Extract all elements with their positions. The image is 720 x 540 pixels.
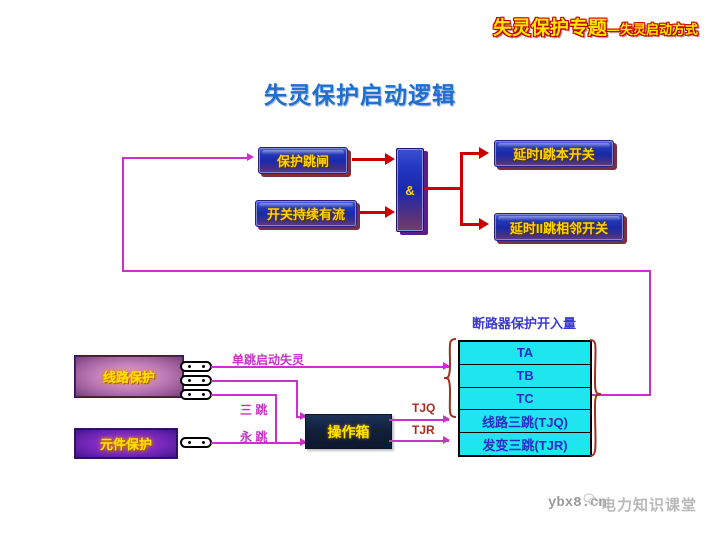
terminal-block-2[interactable] xyxy=(180,375,212,386)
feedback-wire-left-vertical xyxy=(122,158,124,272)
header-banner: 失灵保护专题—失灵启动方式 xyxy=(398,14,698,46)
operation-box[interactable]: 操作箱 xyxy=(305,414,392,449)
wechat-icon xyxy=(583,493,599,507)
table-cell: 发变三跳(TJR) xyxy=(482,435,567,454)
logic-wire-out-trunk xyxy=(424,187,462,190)
wire-three-trip-a xyxy=(211,380,297,382)
logic-input-label-1: 保护跳闸 xyxy=(277,151,329,170)
terminal-block-4[interactable] xyxy=(180,437,212,448)
watermark-brand-group: 电力知识课堂 xyxy=(585,494,697,515)
label-tjr: TJR xyxy=(412,423,435,437)
header-title-main: 失灵保护专题 xyxy=(493,18,607,39)
logic-input-label-2: 开关持续有流 xyxy=(267,204,345,223)
page-title: 失灵保护启动逻辑 xyxy=(0,76,720,110)
feedback-wire-bottom xyxy=(122,270,650,272)
slide-canvas: 失灵保护专题—失灵启动方式 失灵保护启动逻辑 保护跳闸 开关持续有流 & 延时I… xyxy=(0,0,720,540)
source-box-line-protection[interactable]: 线路保护 xyxy=(74,355,184,398)
table-row: 发变三跳(TJR) xyxy=(460,433,590,455)
feedback-wire-top xyxy=(122,157,250,159)
wire-perm-trip-a xyxy=(211,394,276,396)
logic-wire-in-2 xyxy=(360,211,388,214)
table-cell: 线路三跳(TJQ) xyxy=(482,412,568,431)
logic-wire-out-bus xyxy=(460,152,463,226)
label-three-trip: 三 跳 xyxy=(240,401,267,418)
operation-box-label: 操作箱 xyxy=(328,422,370,442)
wire-perm-trip-b xyxy=(275,394,277,443)
source-label-line-protection: 线路保护 xyxy=(103,367,155,386)
and-gate-symbol: & xyxy=(405,183,414,198)
label-tjq: TJQ xyxy=(412,401,435,415)
feedback-arrow-into-input-1 xyxy=(247,153,254,161)
label-perm-trip: 永 跳 xyxy=(240,428,267,445)
logic-output-box-1[interactable]: 延时I跳本开关 xyxy=(494,140,614,167)
table-cell: TB xyxy=(516,368,533,383)
header-title-sep: — xyxy=(607,22,620,37)
table-row: TA xyxy=(460,342,590,365)
table-row: TB xyxy=(460,365,590,388)
source-box-component-protection[interactable]: 元件保护 xyxy=(74,428,178,459)
logic-arrow-out-1 xyxy=(479,147,489,159)
table-row: 线路三跳(TJQ) xyxy=(460,410,590,433)
header-title-sub: 失灵启动方式 xyxy=(620,22,698,37)
logic-input-box-2[interactable]: 开关持续有流 xyxy=(255,200,357,227)
logic-arrow-in-1 xyxy=(385,153,395,165)
logic-arrow-out-2 xyxy=(479,218,489,230)
logic-arrow-in-2 xyxy=(385,206,395,218)
logic-input-box-1[interactable]: 保护跳闸 xyxy=(258,147,348,174)
logic-output-label-1: 延时I跳本开关 xyxy=(513,144,595,163)
wire-three-trip-b xyxy=(296,380,298,417)
terminal-block-1[interactable] xyxy=(180,361,212,372)
logic-wire-in-1 xyxy=(352,158,388,161)
logic-output-box-2[interactable]: 延时II跳相邻开关 xyxy=(494,213,624,241)
feedback-wire-right-vertical xyxy=(649,270,651,395)
breaker-input-table: TA TB TC 线路三跳(TJQ) 发变三跳(TJR) xyxy=(458,340,592,457)
terminal-block-3[interactable] xyxy=(180,389,212,400)
label-single-trip: 单跳启动失灵 xyxy=(232,351,304,368)
logic-output-label-2: 延时II跳相邻开关 xyxy=(510,218,608,237)
table-cell: TA xyxy=(517,345,533,360)
source-label-component-protection: 元件保护 xyxy=(100,434,152,453)
table-left-brace-icon xyxy=(440,334,460,460)
table-right-brace-icon xyxy=(586,334,610,464)
table-cell: TC xyxy=(516,391,533,406)
and-gate[interactable]: & xyxy=(396,148,424,232)
table-title: 断路器保护开入量 xyxy=(458,313,590,332)
watermark-brand: 电力知识课堂 xyxy=(601,494,697,515)
table-row: TC xyxy=(460,388,590,411)
